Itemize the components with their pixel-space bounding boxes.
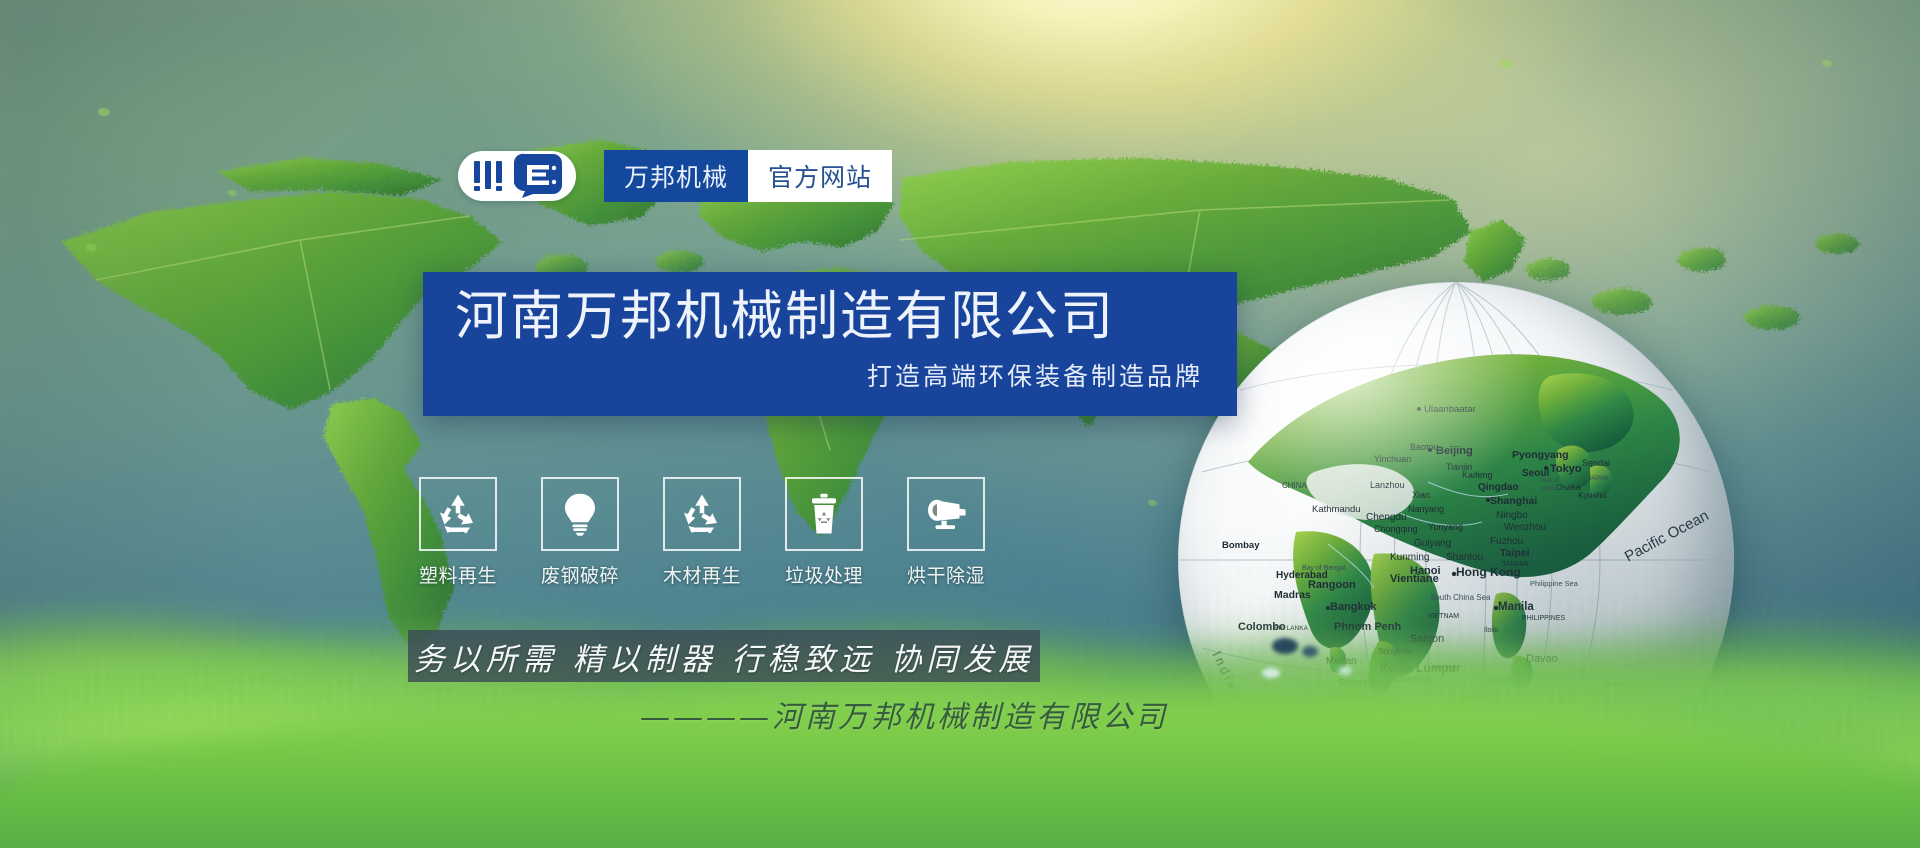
dew-drop xyxy=(1338,666,1352,675)
slogan-bar: 务以所需 精以制器 行稳致远 协同发展 xyxy=(408,630,1040,682)
feature-label: 木材再生 xyxy=(663,561,741,588)
dew-drop xyxy=(1262,668,1280,678)
svg-text:Japan: Japan xyxy=(1540,485,1558,492)
svg-text:Baotou: Baotou xyxy=(1410,442,1439,452)
nav-tab-company[interactable]: 万邦机械 xyxy=(604,150,748,202)
svg-text:JAPAN: JAPAN xyxy=(1588,475,1609,482)
lightbulb-icon xyxy=(556,490,604,538)
leaf-speck xyxy=(228,190,237,196)
dew-drop xyxy=(1302,646,1318,657)
feature-icon-row: 塑料再生 废钢破碎 xyxy=(419,477,985,588)
feature-icon-box xyxy=(785,477,863,551)
feature-icon-box xyxy=(419,477,497,551)
leaf-speck xyxy=(1822,60,1832,67)
feature-waste-treatment[interactable]: 垃圾处理 xyxy=(785,477,863,588)
svg-text:Yinchuan: Yinchuan xyxy=(1374,454,1411,464)
hero-title-panel: 河南万邦机械制造有限公司 打造高端环保装备制造品牌 xyxy=(423,272,1237,416)
svg-text:Ulaanbaatar: Ulaanbaatar xyxy=(1424,404,1476,415)
svg-text:Kathmandu: Kathmandu xyxy=(1312,504,1361,515)
svg-text:Sea of: Sea of xyxy=(1540,477,1559,484)
feature-icon-box xyxy=(663,477,741,551)
feature-wood-recycling[interactable]: 木材再生 xyxy=(663,477,741,588)
svg-text:Kyushu: Kyushu xyxy=(1578,490,1607,500)
svg-text:Sendai: Sendai xyxy=(1582,458,1610,468)
feature-plastic-recycling[interactable]: 塑料再生 xyxy=(419,477,497,588)
svg-text:Nanyang: Nanyang xyxy=(1408,504,1444,514)
leaf-speck xyxy=(86,244,97,251)
svg-text:Lanzhou: Lanzhou xyxy=(1370,480,1405,490)
feature-label: 烘干除湿 xyxy=(907,561,985,588)
svg-text:Xian: Xian xyxy=(1412,490,1430,500)
logo-w-glyph xyxy=(471,159,511,193)
dew-drop xyxy=(1272,638,1298,654)
svg-text:Beijing: Beijing xyxy=(1436,445,1473,457)
leaf-speck xyxy=(1148,500,1157,506)
slogan-text: 务以所需 精以制器 行稳致远 协同发展 xyxy=(414,634,1035,679)
company-name: 河南万邦机械制造有限公司 xyxy=(455,288,1203,345)
leaf-speck xyxy=(1500,60,1513,68)
slogan-signature: ————河南万邦机械制造有限公司 xyxy=(640,692,1200,736)
feature-scrap-steel-crushing[interactable]: 废钢破碎 xyxy=(541,477,619,588)
leaf-speck xyxy=(98,108,110,116)
svg-text:Kaifeng: Kaifeng xyxy=(1462,470,1493,480)
company-tagline: 打造高端环保装备制造品牌 xyxy=(455,357,1203,393)
svg-text:Tokyo: Tokyo xyxy=(1550,463,1582,475)
brand-bar: 万邦机械 官方网站 xyxy=(458,150,892,202)
feature-icon-box xyxy=(907,477,985,551)
hero-banner: Ulaanbaatar Beijing Pyongyang Seoul Toky… xyxy=(0,0,1920,848)
svg-text:CHINA: CHINA xyxy=(1282,481,1308,490)
nav-tab-official-site[interactable]: 官方网站 xyxy=(748,150,892,202)
svg-text:Qingdao: Qingdao xyxy=(1478,482,1519,493)
feature-label: 塑料再生 xyxy=(419,561,497,588)
svg-text:Shanghai: Shanghai xyxy=(1490,495,1537,507)
logo-b-bubble-icon xyxy=(513,153,563,199)
blower-dryer-icon xyxy=(922,490,970,538)
svg-text:Pyongyang: Pyongyang xyxy=(1512,449,1569,461)
recycle-icon xyxy=(434,490,482,538)
nav-tabs: 万邦机械 官方网站 xyxy=(604,150,892,202)
feature-label: 废钢破碎 xyxy=(541,561,619,588)
trash-bin-recycle-icon xyxy=(800,490,848,538)
feature-label: 垃圾处理 xyxy=(785,561,863,588)
wb-logo-icon[interactable] xyxy=(458,151,576,201)
recycle-icon xyxy=(678,490,726,538)
feature-icon-box xyxy=(541,477,619,551)
feature-drying-dehumidifying[interactable]: 烘干除湿 xyxy=(907,477,985,588)
